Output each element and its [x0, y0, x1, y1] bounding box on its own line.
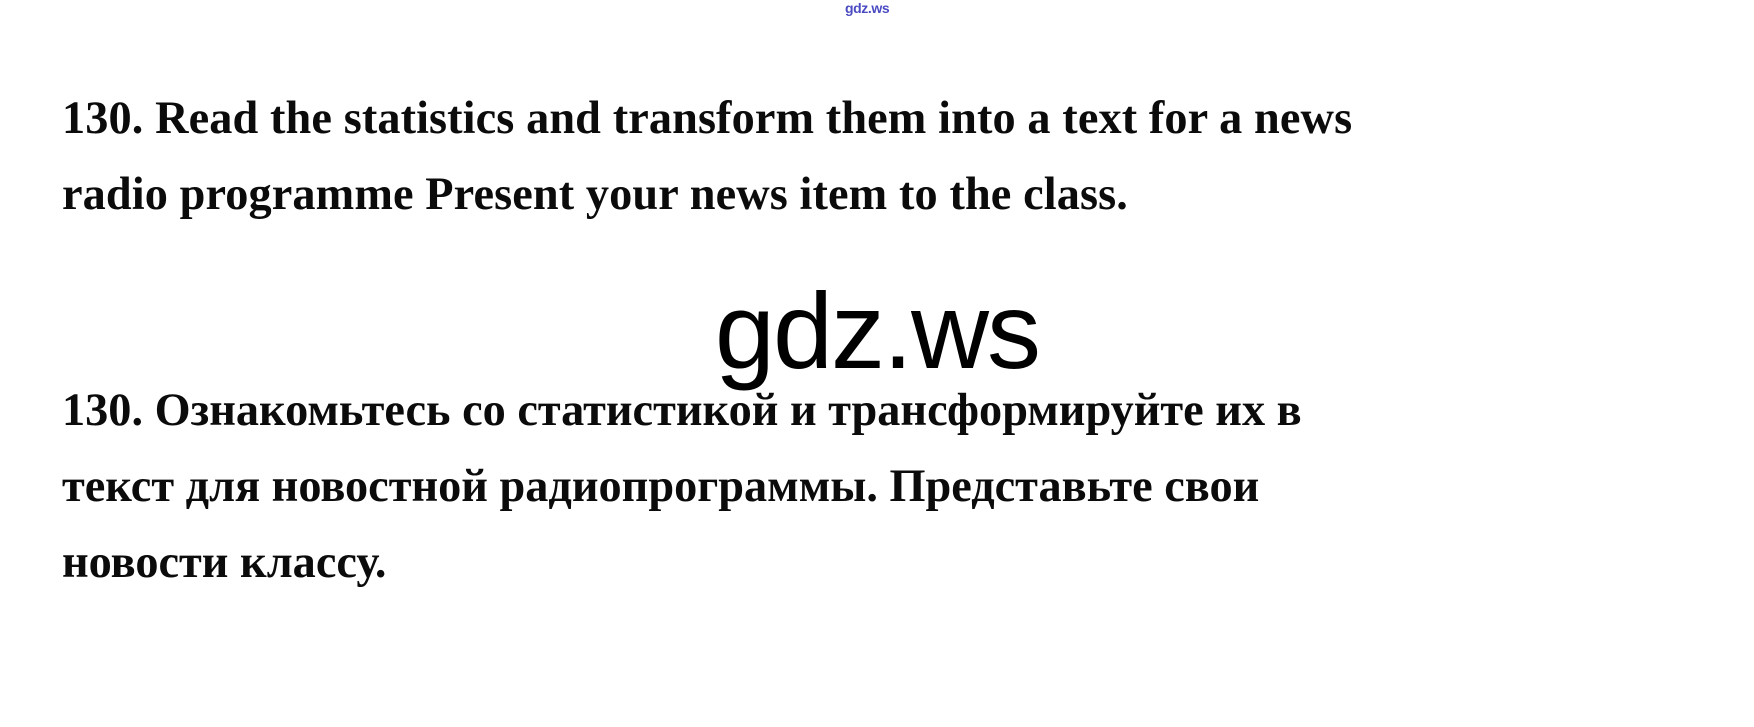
document-page: gdz.ws 130. Read the statistics and tran…	[0, 0, 1754, 727]
exercise-russian-line-1: 130. Ознакомьтесь со статистикой и транс…	[62, 372, 1677, 448]
exercise-russian-line-2: текст для новостной радиопрограммы. Пред…	[62, 448, 1677, 524]
exercise-russian-block: 130. Ознакомьтесь со статистикой и транс…	[62, 372, 1702, 600]
exercise-russian-line-3: новости классу.	[62, 524, 1677, 600]
exercise-english-line-1: 130. Read the statistics and transform t…	[62, 80, 1677, 156]
exercise-english-line-2: radio programme Present your news item t…	[62, 156, 1677, 232]
exercise-english-block: 130. Read the statistics and transform t…	[62, 80, 1702, 232]
site-watermark-top: gdz.ws	[845, 1, 889, 15]
